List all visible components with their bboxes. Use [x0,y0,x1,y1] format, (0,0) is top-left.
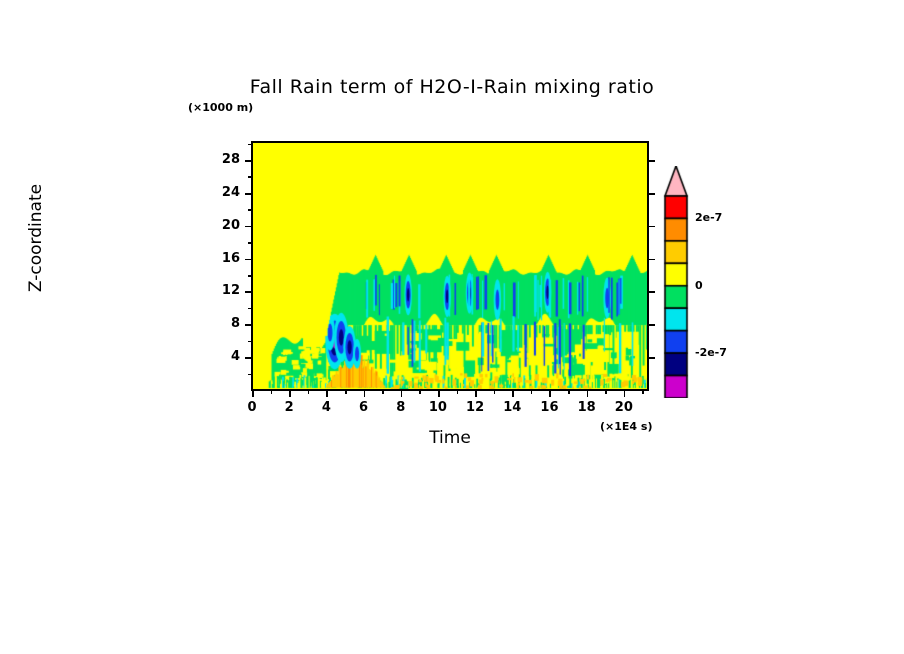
contour-field [252,142,648,390]
axis-tick [648,324,655,326]
axis-tick [648,226,655,228]
x-axis-label: Time [352,428,548,448]
axis-tick-label: 14 [492,400,532,415]
axis-tick [475,390,477,397]
axis-tick [289,390,291,397]
axis-tick [345,390,347,394]
axis-tick [438,390,440,397]
axis-tick-label: 16 [212,251,240,266]
axis-tick [648,291,655,293]
axis-tick [531,390,533,394]
axis-tick [248,308,252,310]
axis-tick-label: 2 [269,400,309,415]
axis-tick [248,341,252,343]
axis-tick [648,259,655,261]
y-axis-label: Z-coordinate [26,168,46,308]
colorbar [663,166,689,398]
axis-tick-label: 18 [567,400,607,415]
x-axis-unit-note: (×1E4 s) [600,420,652,433]
y-axis-unit-note: (×1000 m) [188,101,253,114]
axis-tick [364,390,366,397]
axis-tick [248,176,252,178]
axis-tick [512,390,514,397]
axis-tick-label: 16 [529,400,569,415]
axis-tick [245,193,252,195]
axis-tick [457,390,459,394]
axis-tick-label: 24 [212,185,240,200]
colorbar-tick-label: 2e-7 [695,211,722,224]
figure-root: Fall Rain term of H2O-I-Rain mixing rati… [0,0,904,654]
axis-tick [248,209,252,211]
axis-tick [245,160,252,162]
axis-tick-label: 4 [306,400,346,415]
axis-tick-label: 0 [232,400,272,415]
axis-tick [382,390,384,394]
axis-tick [271,390,273,394]
axis-tick [248,275,252,277]
page-title: Fall Rain term of H2O-I-Rain mixing rati… [0,76,904,98]
axis-tick [642,390,644,394]
axis-tick-label: 4 [212,349,240,364]
axis-tick [326,390,328,397]
axis-tick [252,390,254,397]
colorbar-tick-label: 0 [695,279,703,292]
colorbar-tick-label: -2e-7 [695,346,727,359]
axis-tick [245,291,252,293]
axis-tick [648,357,655,359]
axis-tick [568,390,570,394]
axis-tick-label: 28 [212,152,240,167]
axis-tick-label: 20 [604,400,644,415]
axis-tick [245,259,252,261]
axis-tick [248,374,252,376]
axis-tick [245,324,252,326]
axis-tick [549,390,551,397]
axis-tick-label: 20 [212,218,240,233]
axis-tick-label: 12 [212,283,240,298]
axis-tick [494,390,496,394]
axis-tick [648,193,655,195]
axis-tick-label: 12 [455,400,495,415]
axis-tick [248,242,252,244]
axis-tick [648,160,655,162]
axis-tick-label: 8 [212,316,240,331]
axis-tick-label: 8 [381,400,421,415]
axis-tick [587,390,589,397]
axis-tick-label: 6 [344,400,384,415]
axis-tick-label: 10 [418,400,458,415]
axis-tick [245,226,252,228]
axis-tick [308,390,310,394]
axis-tick [401,390,403,397]
axis-tick [419,390,421,394]
axis-tick [624,390,626,397]
axis-tick [605,390,607,394]
axis-tick [248,144,252,146]
axis-tick [245,357,252,359]
